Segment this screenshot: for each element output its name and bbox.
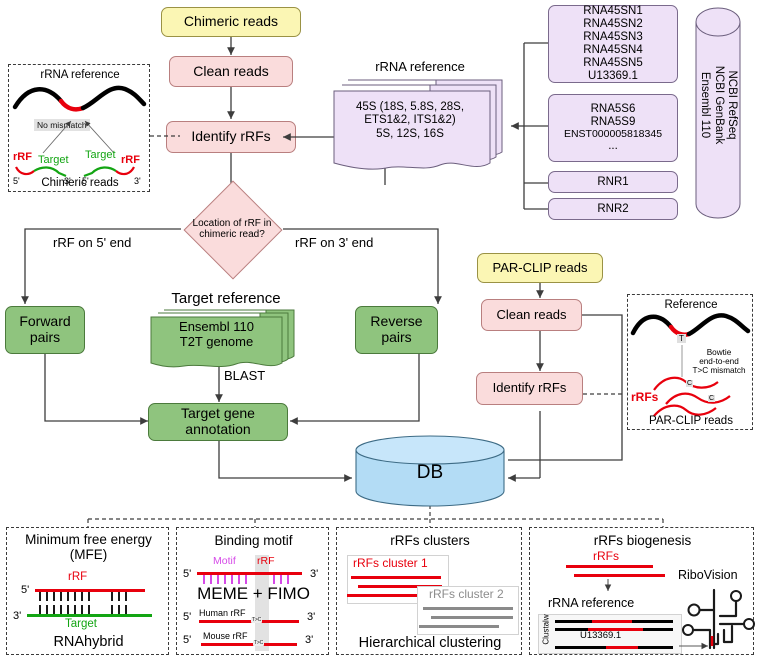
rnr2-box[interactable]: RNR2	[548, 198, 678, 220]
target-reference-title: Target reference	[138, 290, 314, 307]
parclip-reads-label: PAR-CLIP reads	[493, 261, 588, 276]
parclip-inset: Reference T Bowtie end-to-end T>C mismat…	[627, 294, 753, 430]
parclip-inset-caption: PAR-CLIP reads	[628, 415, 754, 428]
decision-label: Location of rRF in chimeric read?	[182, 193, 282, 265]
read2-target-label: Target	[85, 149, 116, 161]
rnr1-label: RNR1	[597, 176, 628, 189]
database-node[interactable]: DB	[354, 436, 506, 508]
parclip-identify-rrfs-label: Identify rRFs	[493, 381, 567, 396]
target-gene-annotation-label: Target gene annotation	[153, 406, 283, 437]
inset-caption: Chimeric reads	[9, 177, 151, 190]
rna45s-line-6: U13369.1	[583, 70, 642, 83]
databases-text: NCBI RefSeq NCBI GenBank Ensembl 110	[694, 17, 742, 193]
parclip-reads-node[interactable]: PAR-CLIP reads	[477, 253, 603, 283]
db-source-3: Ensembl 110	[698, 66, 712, 145]
parclip-reference-label: Reference	[628, 299, 754, 312]
reference-base-badge: T	[677, 334, 686, 343]
target-reference-stack[interactable]: Target reference Ensembl 110 T2T genome	[148, 290, 304, 370]
rnr2-label: RNR2	[597, 203, 628, 216]
rrf-location-decision[interactable]: Location of rRF in chimeric read?	[182, 193, 282, 265]
chimeric-reads-inset: rRNA reference No mismatch rRF Target 5'…	[8, 64, 150, 192]
parclip-reference-wave	[631, 315, 751, 343]
parclip-identify-rrfs-node[interactable]: Identify rRFs	[476, 372, 583, 405]
reverse-pairs-label: Reverse pairs	[360, 314, 433, 345]
rna5s-line-3: ENST000005818345	[564, 129, 662, 141]
forward-pairs-node[interactable]: Forward pairs	[5, 306, 85, 354]
forward-pairs-label: Forward pairs	[10, 314, 80, 345]
parclip-read-strands	[652, 378, 752, 420]
mutation-badge-1: C	[686, 380, 693, 387]
rnr1-box[interactable]: RNR1	[548, 171, 678, 193]
mismatch-pointers	[9, 105, 151, 157]
rna5s-line-2: RNA5S9	[564, 116, 662, 129]
parclip-clean-reads-node[interactable]: Clean reads	[481, 299, 582, 331]
read1-rrf-label: rRF	[13, 151, 32, 163]
parclip-clean-reads-label: Clean reads	[496, 308, 566, 323]
rrna-reference-title: rRNA reference	[330, 60, 510, 75]
pipeline-diagram: Chimeric reads Clean reads Identify rRFs…	[0, 0, 760, 659]
rna45s-line-3: RNA45SN3	[583, 31, 642, 44]
method-line-3: T>C mismatch	[686, 367, 752, 376]
rna45s-line-2: RNA45SN2	[583, 18, 642, 31]
db-source-2: NCBI GenBank	[711, 66, 725, 145]
rrna-doc-shapes	[330, 74, 510, 170]
rna45s-line-4: RNA45SN4	[583, 44, 642, 57]
bowtie-method-label: Bowtie end-to-end T>C mismatch	[686, 349, 752, 376]
rrna-reference-stack[interactable]: rRNA reference 45S (18S, 5.8S, 28S, ETS1…	[330, 60, 510, 170]
databases-cylinder[interactable]: NCBI RefSeq NCBI GenBank Ensembl 110	[694, 6, 742, 220]
db-source-1: NCBI RefSeq	[725, 66, 739, 145]
rna5s-line-1: RNA5S6	[564, 103, 662, 116]
target-gene-annotation-node[interactable]: Target gene annotation	[148, 403, 288, 441]
inset-title: rRNA reference	[9, 69, 151, 82]
db-label: DB	[354, 462, 506, 484]
rna45s-box[interactable]: RNA45SN1 RNA45SN2 RNA45SN3 RNA45SN4 RNA4…	[548, 5, 678, 83]
rna45s-line-5: RNA45SN5	[583, 57, 642, 70]
reverse-pairs-node[interactable]: Reverse pairs	[355, 306, 438, 354]
rna45s-line-1: RNA45SN1	[583, 5, 642, 18]
rna5s-line-4: ...	[564, 140, 662, 153]
mutation-badge-2: C	[708, 395, 715, 402]
target-doc-shapes	[148, 308, 304, 370]
rna5s-box[interactable]: RNA5S6 RNA5S9 ENST000005818345 ...	[548, 94, 678, 162]
